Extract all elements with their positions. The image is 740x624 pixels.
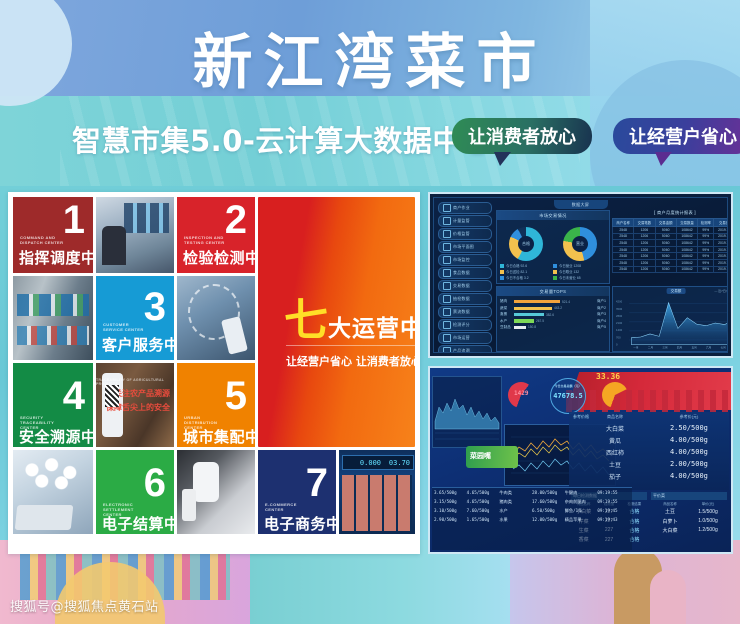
- ticker-cell: 4.65/500g: [467, 490, 500, 496]
- promo-seven: 七: [284, 301, 328, 341]
- table-cell: 1206: [634, 259, 655, 266]
- ticker-cell: 09:19:55: [597, 490, 630, 496]
- sidebar-item-3[interactable]: 市场平面图: [438, 241, 492, 253]
- sidebar-icon-2: [443, 230, 451, 238]
- legend-item: 今日未营业 65: [553, 275, 606, 280]
- svg-text:4200: 4200: [616, 299, 623, 303]
- table-cell: 2019.7.17: [714, 246, 728, 253]
- table-cell: 1206: [634, 227, 655, 234]
- tops-row: 蔬菜443.2商户2: [500, 306, 606, 311]
- ticker-row: 3.65/500g4.65/500g牛肉类28.00/500g牛腱肉09:19:…: [432, 488, 632, 497]
- sidebar-label-2: 价格监管: [453, 231, 470, 237]
- page-title: 新江湾菜市: [0, 14, 740, 101]
- price-row: 黄瓜4.00/500g: [569, 434, 729, 446]
- price-panel-header: 商品名称 参考价(元): [569, 412, 729, 422]
- pos-product-grid: [342, 475, 412, 530]
- center-1-name: 指挥调度中心: [19, 247, 93, 268]
- ticker-cell: 杂肉前腿肉: [565, 499, 598, 505]
- traceability-caption-1: 关注农产品溯源: [114, 388, 170, 399]
- center-4-name: 安全溯源中心: [19, 426, 93, 447]
- table-row: 25481206506010864299%2019.7.17: [613, 266, 729, 273]
- photo-mobile-network: [177, 276, 255, 360]
- sidebar-item-6[interactable]: 交易数据: [438, 280, 492, 292]
- promo-headline: 大运营中心: [328, 309, 415, 343]
- table-cell: 1206: [634, 240, 655, 247]
- transaction-ticker: 3.65/500g4.65/500g牛肉类28.00/500g牛腱肉09:19:…: [432, 487, 632, 550]
- donut-legend: 今日合格 92.6今日营业 1208今日送检 82.1今日歇业 132今日不合格…: [500, 263, 606, 281]
- ticker-cell: 09:19:43: [597, 517, 630, 523]
- center-card-7[interactable]: 7 E-COMMERCE CENTER 电子商务中心: [258, 450, 336, 534]
- traceability-caption-2: 保障舌尖上的安全: [106, 402, 170, 413]
- table-cell: 2548: [613, 266, 634, 273]
- table-row: 25481206506010864299%2019.7.17: [613, 240, 729, 247]
- ticker-cell: 7.60/500g: [467, 508, 500, 514]
- page-subtitle: 智慧市集5.0-云计算大数据中心: [72, 118, 491, 160]
- center-card-3[interactable]: 3 CUSTOMER SERVICE CENTER 客户服务中心: [96, 276, 174, 360]
- table-col: 检测率: [698, 219, 714, 227]
- center-card-5[interactable]: 5 URBAN DISTRIBUTION CENTER 城市集配中心: [177, 363, 255, 447]
- table-cell: 5060: [655, 233, 676, 240]
- dashboard-screen-top: 数据大屏 商户作业计量监管价格监管市场平面图市场监控食品数据交易数据抽检数据票流…: [428, 192, 733, 358]
- price-row: 西红柿4.00/500g: [569, 446, 729, 458]
- sidebar-label-7: 抽检数据: [453, 296, 470, 302]
- table-cell: 2019.7.17: [714, 259, 728, 266]
- table-cell: 1.5/500g: [689, 509, 727, 515]
- donut-quality-label: 合格: [518, 236, 534, 252]
- sidebar-item-11[interactable]: 产品追溯: [438, 345, 492, 353]
- pos-value-1: 0.000: [360, 459, 381, 467]
- table-cell: 1206: [634, 246, 655, 253]
- trend-svg: 420035002800210014007000 一月二月三月四月五月六月七月: [615, 297, 728, 349]
- center-7-english: E-COMMERCE CENTER: [265, 502, 309, 512]
- price-row-list: 大白菜2.50/500g黄瓜4.00/500g西红柿4.00/500g土豆2.0…: [569, 422, 729, 482]
- center-4-number: 4: [63, 377, 85, 415]
- center-3-english: CUSTOMER SERVICE CENTER: [103, 322, 147, 332]
- table-cell: 2548: [613, 246, 634, 253]
- table-col: 交易数量: [676, 219, 697, 227]
- center-7-name: 电子商务中心: [264, 513, 336, 534]
- badge-merchant-label: 让经营户省心: [629, 123, 737, 149]
- table-cell: 99%: [698, 233, 714, 240]
- ticker-cell: 28.00/500g: [532, 490, 565, 496]
- total-trade-caption: 今日交易总额（元）: [551, 384, 585, 389]
- trend-note: — 近7日/近30日: [714, 289, 728, 293]
- market-logo-text: 菜园嘴: [470, 451, 491, 461]
- sidebar-icon-9: [443, 321, 451, 329]
- svg-text:一月: 一月: [633, 345, 638, 349]
- photo-payment-terminal: [177, 450, 255, 534]
- table-cell: 108642: [676, 259, 697, 266]
- legend-item: 今日歇业 132: [553, 269, 606, 274]
- photo-pos-screen: 0.000 03.70: [339, 450, 415, 534]
- center-1-number: 1: [63, 201, 85, 239]
- sidebar-label-3: 市场平面图: [453, 244, 474, 250]
- table-cell: 99%: [698, 227, 714, 234]
- dashboard2-skyline-buildings: [566, 390, 731, 412]
- table-cell: 2019.7.17: [714, 266, 728, 273]
- legend-item: 今日营业 1208: [553, 263, 606, 268]
- table-cell: 99%: [698, 259, 714, 266]
- sidebar-icon-11: [443, 347, 451, 353]
- card-trade-tops: 交易量TOPS 猪肉521.4商户1蔬菜443.2商户2禽蛋382.6商户3水产…: [496, 286, 610, 352]
- svg-text:六月: 六月: [706, 345, 711, 349]
- center-2-english: INSPECTION AND TESTING CENTER: [184, 235, 236, 245]
- sidebar-label-1: 计量监管: [453, 218, 470, 224]
- center-card-4[interactable]: 4 SECURITY TRACEABILITY CENTER 安全溯源中心: [13, 363, 93, 447]
- left-chart-svg: [433, 377, 501, 447]
- sidebar-label-10: 市场运营: [453, 335, 470, 341]
- trend-area-chart: 420035002800210014007000 一月二月三月四月五月六月七月: [615, 297, 728, 349]
- center-3-name: 客户服务中心: [102, 334, 174, 355]
- photo-traceability-phone: TRACEABILITY OF AGRICULTURAL PRODUCTS 关注…: [96, 363, 174, 447]
- sidebar-icon-5: [443, 269, 451, 277]
- donut-group: 合格 营业: [497, 223, 609, 263]
- table-cell: 2548: [613, 240, 634, 247]
- table-cell: 2548: [613, 233, 634, 240]
- table-cell: 2548: [613, 253, 634, 260]
- ticker-cell: 精品苹果: [565, 517, 598, 523]
- poster-header: 新江湾菜市 智慧市集5.0-云计算大数据中心 让消费者放心 让经营户省心: [0, 0, 740, 186]
- col-header: 单价(元): [689, 501, 727, 506]
- table-cell: 1.0/500g: [689, 518, 727, 524]
- card-market-trade: 市场交易情况 合格 营业 今日合格 92.6今日营业 1208今日送检 82.1…: [496, 210, 610, 284]
- center-5-name: 城市集配中心: [183, 426, 255, 447]
- card-tops-title: 交易量TOPS: [497, 287, 609, 296]
- sidebar-label-8: 票流数据: [453, 309, 470, 315]
- table-cell: 108642: [676, 253, 697, 260]
- badge-consumer-label: 让消费者放心: [468, 123, 576, 149]
- table-row: 白萝卜1.0/500g: [651, 516, 727, 525]
- table-row: 大白菜1.2/500g: [651, 526, 727, 535]
- center-5-number: 5: [225, 377, 247, 415]
- illustration-figure-2: [650, 570, 686, 624]
- center-2-name: 检验检测中心: [183, 247, 255, 268]
- centers-grid-panel: 1 COMMAND AND DISPATCH CENTER 指挥调度中心 2 I…: [8, 192, 420, 554]
- promo-panel: 七 大运营中心 让经营户省心 让消费者放心: [258, 197, 415, 447]
- table-cell: 大白菜: [651, 527, 689, 534]
- table-cell: 108642: [676, 233, 697, 240]
- table-cell: 99%: [698, 240, 714, 247]
- table-cell: 99%: [698, 246, 714, 253]
- tops-row: 水产267.5商户4: [500, 319, 606, 324]
- dashboard-sidebar: 商户作业计量监管价格监管市场平面图市场监控食品数据交易数据抽检数据票流数据检测评…: [436, 202, 494, 348]
- table-col: 交易日期: [714, 219, 728, 227]
- cheap-table-rows: 土豆1.5/500g白萝卜1.0/500g大白菜1.2/500g: [651, 507, 727, 535]
- ticker-cell: 4.65/500g: [467, 499, 500, 505]
- table-row: 25481206506010864299%2019.7.17: [613, 246, 729, 253]
- table-cell: 108642: [676, 227, 697, 234]
- merchant-table: 商户名称交易笔数交易金额交易数量检测率交易日期 2548120650601086…: [612, 218, 728, 273]
- ticker-cell: 水果: [499, 517, 532, 523]
- ticker-cell: 09:19:45: [597, 508, 630, 514]
- promo-divider: [286, 345, 415, 346]
- centers-grid: 1 COMMAND AND DISPATCH CENTER 指挥调度中心 2 I…: [13, 197, 415, 549]
- ticker-cell: 12.00/500g: [532, 517, 565, 523]
- ticker-cell: 3.10/500g: [434, 508, 467, 514]
- center-6-name: 电子结算中心: [102, 513, 174, 534]
- ticker-row: 3.10/500g7.60/500g水产6.50/500g鲫鱼/1条09:19:…: [432, 506, 632, 515]
- dashboard-inner: 数据大屏 商户作业计量监管价格监管市场平面图市场监控食品数据交易数据抽检数据票流…: [433, 197, 728, 353]
- sidebar-item-7[interactable]: 抽检数据: [438, 293, 492, 305]
- table-col: 商户名称: [613, 219, 634, 227]
- photo-market-aisle: [13, 276, 93, 360]
- center-card-1[interactable]: 1 COMMAND AND DISPATCH CENTER 指挥调度中心: [13, 197, 93, 273]
- sidebar-label-11: 产品追溯: [453, 348, 470, 353]
- sidebar-icon-1: [443, 217, 451, 225]
- table-cell: 5060: [655, 227, 676, 234]
- sidebar-icon-10: [443, 334, 451, 342]
- pos-value-2: 03.70: [389, 459, 410, 467]
- svg-text:1400: 1400: [616, 328, 623, 332]
- ticker-cell: 3.15/500g: [434, 499, 467, 505]
- table-cell: 5060: [655, 253, 676, 260]
- total-trade-value: 47678.5: [553, 392, 583, 400]
- price-row: 土豆2.00/500g: [569, 458, 729, 470]
- ticker-row: 2.90/500g1.65/500g水果12.00/500g精品苹果09:19:…: [432, 516, 632, 525]
- svg-text:七月: 七月: [721, 345, 726, 349]
- sidebar-label-4: 市场监控: [453, 257, 470, 263]
- sidebar-label-9: 检测评分: [453, 322, 470, 328]
- table-cell: 108642: [676, 246, 697, 253]
- tops-row: 猪肉521.4商户1: [500, 299, 606, 304]
- svg-text:五月: 五月: [691, 345, 696, 349]
- table-col: 交易笔数: [634, 219, 655, 227]
- table-row: 25481206506010864299%2019.7.17: [613, 259, 729, 266]
- table-cell: 1206: [634, 253, 655, 260]
- tops-row: 禽蛋382.6商户3: [500, 312, 606, 317]
- ticker-cell: 6.50/500g: [532, 508, 565, 514]
- sidebar-item-9[interactable]: 检测评分: [438, 319, 492, 331]
- price-panel-title: 参考价格: [573, 414, 589, 420]
- dashboard-screen-bottom: 47678.5 今日交易总额（元） 1429 33.36: [428, 366, 733, 554]
- dashboard-tab[interactable]: 数据大屏: [554, 200, 608, 209]
- card-merchant-table: [ 商户月度统计报表 ] 商户名称交易笔数交易金额交易数量检测率交易日期 254…: [612, 210, 728, 282]
- table-cell: 5060: [655, 246, 676, 253]
- ticker-cell: 水产: [499, 508, 532, 514]
- ticker-row: 3.15/500g4.65/500g猪肉类17.60/500g杂肉前腿肉09:1…: [432, 497, 632, 506]
- center-3-number: 3: [144, 288, 166, 326]
- table-row: 25481206506010864299%2019.7.17: [613, 227, 729, 234]
- gauge-right: [602, 382, 628, 408]
- cheap-table-title: 平价菜: [651, 492, 727, 500]
- sidebar-label-6: 交易数据: [453, 283, 470, 289]
- tops-bar-list: 猪肉521.4商户1蔬菜443.2商户2禽蛋382.6商户3水产267.5商户4…: [497, 298, 609, 331]
- legend-item: 今日送检 82.1: [500, 269, 553, 274]
- poster-root: 新江湾菜市 智慧市集5.0-云计算大数据中心 让消费者放心 让经营户省心 1: [0, 0, 740, 624]
- table-cell: 2548: [613, 259, 634, 266]
- merchant-table-body: 25481206506010864299%2019.7.172548120650…: [613, 227, 729, 273]
- table-cell: 99%: [698, 266, 714, 273]
- svg-text:2800: 2800: [616, 314, 623, 318]
- table-cell: 白萝卜: [651, 518, 689, 525]
- traceability-english: TRACEABILITY OF AGRICULTURAL PRODUCTS: [96, 378, 168, 386]
- table-row: 25481206506010864299%2019.7.17: [613, 233, 729, 240]
- sidebar-item-1[interactable]: 计量监管: [438, 215, 492, 227]
- promo-tagline: 让经营户省心 让消费者放心: [286, 353, 415, 369]
- svg-text:700: 700: [616, 335, 621, 339]
- donut-business-label: 营业: [572, 236, 588, 252]
- photo-laptop-network: [13, 450, 93, 534]
- market-logo: 菜园嘴: [466, 446, 518, 468]
- ticker-cell: 鲫鱼/1条: [565, 508, 598, 514]
- table-row: 土豆1.5/500g: [651, 507, 727, 516]
- gauge-right-value: 33.36: [596, 372, 620, 381]
- ticker-cell: 1.65/500g: [467, 517, 500, 523]
- trend-title: 交易额: [667, 288, 686, 294]
- table-cell: 5060: [655, 259, 676, 266]
- ticker-cell: 17.60/500g: [532, 499, 565, 505]
- sidebar-icon-8: [443, 308, 451, 316]
- photo-command-center: [96, 197, 174, 273]
- dashboard-main: 市场交易情况 合格 营业 今日合格 92.6今日营业 1208今日送检 82.1…: [496, 210, 724, 348]
- svg-text:四月: 四月: [677, 345, 682, 349]
- reference-price-panel: 商品名称 参考价(元) 大白菜2.50/500g黄瓜4.00/500g西红柿4.…: [569, 412, 729, 490]
- donut-chart-business: 营业: [563, 227, 597, 261]
- card-table-title: [ 商户月度统计报表 ]: [612, 210, 728, 216]
- ticker-cell: 牛肉类: [499, 490, 532, 496]
- sidebar-icon-0: [443, 204, 451, 212]
- badge-consumer: 让消费者放心: [452, 118, 592, 154]
- svg-text:三月: 三月: [662, 345, 667, 349]
- card-trend: 交易额 — 近7日/近30日: [612, 286, 728, 352]
- gauge-left-value: 1429: [514, 390, 528, 397]
- sidebar-label-0: 商户作业: [453, 205, 470, 211]
- table-cell: 2548: [613, 227, 634, 234]
- sidebar-icon-3: [443, 243, 451, 251]
- legend-item: 今日合格 92.6: [500, 263, 553, 268]
- center-2-number: 2: [225, 201, 247, 239]
- table-cell: 1.2/500g: [689, 527, 727, 533]
- center-card-2[interactable]: 2 INSPECTION AND TESTING CENTER 检验检测中心: [177, 197, 255, 273]
- cheap-price-table: 平价菜 商品名称单价(元) 土豆1.5/500g白萝卜1.0/500g大白菜1.…: [649, 492, 729, 550]
- ticker-cell: 3.65/500g: [434, 490, 467, 496]
- sidebar-label-5: 食品数据: [453, 270, 470, 276]
- svg-text:二月: 二月: [648, 345, 653, 349]
- legend-item: 今日不合格 3.2: [500, 275, 553, 280]
- table-cell: 108642: [676, 266, 697, 273]
- donut-chart-quality: 合格: [509, 227, 543, 261]
- table-row: 25481206506010864299%2019.7.17: [613, 253, 729, 260]
- center-7-number: 7: [306, 464, 328, 502]
- table-cell: 2019.7.17: [714, 227, 728, 234]
- total-trade-ring: 47678.5 今日交易总额（元）: [550, 378, 586, 414]
- table-col: 交易金额: [655, 219, 676, 227]
- center-card-6[interactable]: 6 ELECTRONIC SETTLEMENT CENTER 电子结算中心: [96, 450, 174, 534]
- cheap-table-header: 商品名称单价(元): [651, 500, 727, 507]
- price-row: 茄子4.00/500g: [569, 470, 729, 482]
- sidebar-item-2[interactable]: 价格监管: [438, 228, 492, 240]
- center-6-number: 6: [144, 464, 166, 502]
- dashboard2-left-chart: [432, 376, 502, 448]
- table-cell: 2019.7.17: [714, 233, 728, 240]
- center-1-english: COMMAND AND DISPATCH CENTER: [20, 235, 72, 245]
- tops-row: 豆制品150.8商户5: [500, 325, 606, 330]
- sidebar-icon-6: [443, 282, 451, 290]
- col-header: 商品名称: [651, 501, 689, 506]
- table-cell: 108642: [676, 240, 697, 247]
- svg-text:0: 0: [616, 342, 618, 346]
- sidebar-item-0[interactable]: 商户作业: [438, 202, 492, 214]
- price-col-price: 参考价(元): [655, 414, 723, 420]
- svg-text:2100: 2100: [616, 321, 623, 325]
- card-market-title: 市场交易情况: [497, 211, 609, 220]
- table-cell: 2019.7.17: [714, 253, 728, 260]
- ticker-cell: 猪肉类: [499, 499, 532, 505]
- ticker-cell: 牛腱肉: [565, 490, 598, 496]
- table-cell: 5060: [655, 266, 676, 273]
- badge-merchant: 让经营户省心: [613, 118, 740, 154]
- table-cell: 土豆: [651, 508, 689, 515]
- table-cell: 99%: [698, 253, 714, 260]
- sidebar-item-8[interactable]: 票流数据: [438, 306, 492, 318]
- ticker-cell: 2.90/500g: [434, 517, 467, 523]
- sidebar-icon-7: [443, 295, 451, 303]
- table-cell: 2019.7.17: [714, 240, 728, 247]
- price-row: 大白菜2.50/500g: [569, 422, 729, 434]
- sidebar-item-10[interactable]: 市场运营: [438, 332, 492, 344]
- svg-text:3500: 3500: [616, 307, 623, 311]
- merchant-table-header: 商户名称交易笔数交易金额交易数量检测率交易日期: [613, 219, 729, 227]
- ticker-cell: 09:19:55: [597, 499, 630, 505]
- table-cell: 1206: [634, 266, 655, 273]
- sidebar-item-5[interactable]: 食品数据: [438, 267, 492, 279]
- watermark: 搜狐号@搜狐焦点黄石站: [10, 596, 159, 615]
- table-cell: 5060: [655, 240, 676, 247]
- table-cell: 1206: [634, 233, 655, 240]
- sidebar-icon-4: [443, 256, 451, 264]
- sidebar-item-4[interactable]: 市场监控: [438, 254, 492, 266]
